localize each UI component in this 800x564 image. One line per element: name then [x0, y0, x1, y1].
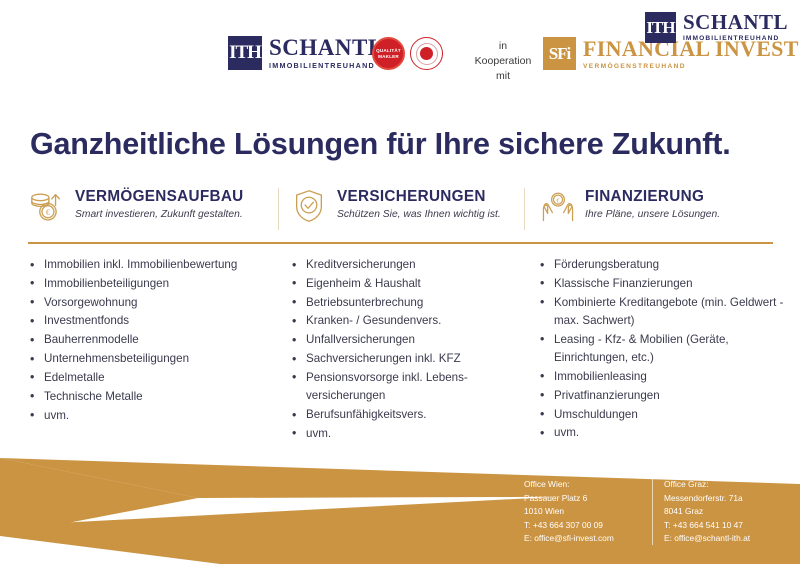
list-item: Immobilien inkl. Immobilienbewertung — [28, 256, 276, 274]
cooperation-label: in Kooperation mit — [470, 39, 536, 85]
page-title: Ganzheitliche Lösungen für Ihre sichere … — [30, 128, 775, 162]
column-versicherungen: VERSICHERUNGEN Schützen Sie, was Ihnen w… — [290, 186, 538, 232]
ith-monogram-icon: ITH — [228, 36, 262, 70]
office-city: 8041 Graz — [664, 505, 783, 519]
ith-monogram-text-topright: ITH — [646, 18, 674, 38]
column-title: FINANZIERUNG — [585, 189, 720, 206]
treuhand-seal-crest — [420, 47, 433, 60]
column-subtitle: Ihre Pläne, unsere Lösungen. — [585, 209, 720, 221]
column-divider-1 — [278, 188, 279, 230]
qualitaets-makler-seal-label: QUALITÄT MAKLER — [374, 48, 403, 59]
coins-euro-arrow-icon: € — [28, 187, 66, 225]
column-bullet-list: Kreditversicherungen Eigenheim & Haushal… — [290, 256, 538, 444]
logo-schantl-center: ITH SCHANTL IMMOBILIENTREUHAND — [228, 36, 384, 70]
service-columns: € VERMÖGENSAUFBAU Smart investieren, Zuk… — [0, 186, 800, 451]
column-title: VERMÖGENSAUFBAU — [75, 189, 244, 206]
list-item: Kombinierte Kreditangebote (min. Geldwer… — [538, 294, 788, 331]
list-item: Privatfinanzierungen — [538, 387, 788, 405]
list-item: Technische Metalle — [28, 388, 276, 406]
ith-monogram-icon-topright: ITH — [645, 12, 676, 43]
list-item: Bauherrenmodelle — [28, 331, 276, 349]
list-item: Kreditversicherungen — [290, 256, 538, 274]
poster-page: ITH SCHANTL IMMOBILIENTREUHAND QUALITÄT … — [0, 0, 800, 564]
sfi-monogram-icon: SFi — [543, 37, 576, 70]
list-item: Unternehmensbeteiligungen — [28, 350, 276, 368]
list-item: Sachversicherungen inkl. KFZ — [290, 350, 538, 368]
list-item: Betriebsunterbrechung — [290, 294, 538, 312]
list-item: Förderungsberatung — [538, 256, 788, 274]
column-header: € VERMÖGENSAUFBAU Smart investieren, Zuk… — [28, 186, 276, 232]
list-item: Vorsorgewohnung — [28, 294, 276, 312]
list-item: Kranken- / Gesundenvers. — [290, 312, 538, 330]
office-phone[interactable]: T: +43 664 541 10 47 — [664, 519, 783, 533]
column-header: € FINANZIERUNG Ihre Pläne, unsere Lösung… — [538, 186, 788, 232]
header-logo-strip: ITH SCHANTL IMMOBILIENTREUHAND QUALITÄT … — [0, 0, 800, 110]
office-graz-block: Office Graz: Messendorferstr. 71a 8041 G… — [653, 478, 783, 546]
column-title: VERSICHERUNGEN — [337, 189, 501, 206]
column-subtitle: Smart investieren, Zukunft gestalten. — [75, 209, 244, 221]
column-bullet-list: Förderungsberatung Klassische Finanzieru… — [538, 256, 788, 443]
logo-schantl-topright: ITH SCHANTL IMMOBILIENTREUHAND — [645, 12, 788, 43]
qualitaets-makler-seal-icon: QUALITÄT MAKLER — [372, 37, 405, 70]
office-city: 1010 Wien — [524, 505, 652, 519]
office-email[interactable]: E: office@sfi-invest.com — [524, 532, 652, 546]
svg-text:€: € — [46, 208, 50, 217]
schantl-wordmark-topright: SCHANTL — [683, 12, 788, 33]
list-item: Immobilienbeteiligungen — [28, 275, 276, 293]
list-item: Investmentfonds — [28, 312, 276, 330]
office-name: Office Wien: — [524, 478, 652, 492]
certification-seals: QUALITÄT MAKLER — [372, 37, 443, 70]
list-item: Unfallversicherungen — [290, 331, 538, 349]
gold-divider-rule — [28, 242, 773, 244]
list-item: Immobilienleasing — [538, 368, 788, 386]
office-street: Passauer Platz 6 — [524, 492, 652, 506]
column-vermoegensaufbau: € VERMÖGENSAUFBAU Smart investieren, Zuk… — [28, 186, 276, 232]
column-bullet-list: Immobilien inkl. Immobilienbewertung Imm… — [28, 256, 276, 425]
office-wien-block: Office Wien: Passauer Platz 6 1010 Wien … — [524, 478, 652, 546]
office-name: Office Graz: — [664, 478, 783, 492]
column-finanzierung: € FINANZIERUNG Ihre Pläne, unsere Lösung… — [538, 186, 788, 232]
list-item: Umschuldungen — [538, 406, 788, 424]
list-item: Berufsunfähigkeitsvers. — [290, 406, 538, 424]
list-item: Edelmetalle — [28, 369, 276, 387]
footer-contacts: Office Wien: Passauer Platz 6 1010 Wien … — [524, 478, 783, 546]
office-street: Messendorferstr. 71a — [664, 492, 783, 506]
financial-invest-tagline: VERMÖGENSTREUHAND — [583, 63, 799, 70]
column-header: VERSICHERUNGEN Schützen Sie, was Ihnen w… — [290, 186, 538, 232]
schantl-tagline-topright: IMMOBILIENTREUHAND — [683, 36, 788, 43]
schantl-tagline: IMMOBILIENTREUHAND — [269, 62, 384, 69]
contact-divider — [652, 479, 653, 545]
office-email[interactable]: E: office@schantl-ith.at — [664, 532, 783, 546]
ith-monogram-text: ITH — [229, 42, 261, 64]
office-phone[interactable]: T: +43 664 307 00 09 — [524, 519, 652, 533]
hands-holding-coin-icon: € — [538, 187, 576, 225]
treuhand-seal-ring — [416, 43, 438, 65]
column-subtitle: Schützen Sie, was Ihnen wichtig ist. — [337, 209, 501, 221]
shield-check-icon — [290, 187, 328, 225]
treuhand-seal-icon — [410, 37, 443, 70]
list-item: Klassische Finanzierungen — [538, 275, 788, 293]
list-item: Eigenheim & Haushalt — [290, 275, 538, 293]
list-item: Pensionsvorsorge inkl. Lebens-versicheru… — [290, 369, 538, 406]
schantl-wordmark: SCHANTL — [269, 36, 384, 59]
list-item: uvm. — [28, 407, 276, 425]
list-item: Leasing - Kfz- & Mobilien (Geräte, Einri… — [538, 331, 788, 368]
